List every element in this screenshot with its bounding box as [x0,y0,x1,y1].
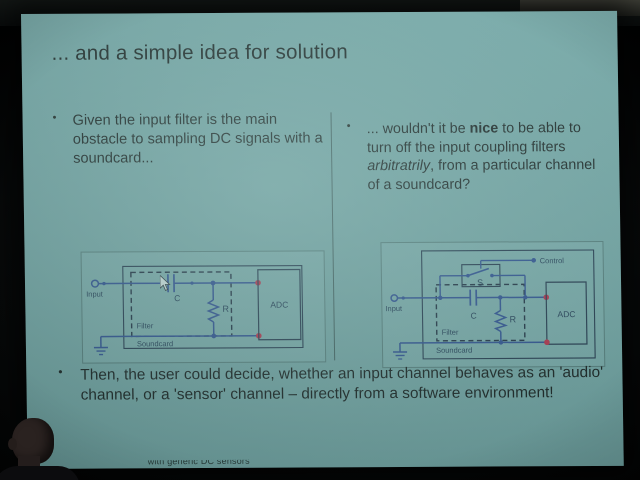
capacitor-label: C [470,311,476,321]
filter-label: Filter [442,328,459,337]
left-column: Given the input filter is the main obsta… [46,110,329,168]
switch-label: S [477,278,483,288]
adc-label: ADC [270,300,288,310]
wire-dot-1 [190,281,193,284]
left-bullet: Given the input filter is the main obsta… [46,110,329,168]
input-junction-dot [438,296,442,300]
input-dot-1 [402,296,405,299]
resistor-label: R [510,314,517,324]
right-bullet-bold: nice [470,120,499,136]
soundcard-label: Soundcard [137,339,173,348]
column-divider [330,112,335,360]
figure-passive-filter: C R [81,250,327,363]
control-terminal [531,258,536,263]
slide-content: ... and a simple idea for solution Given… [21,11,624,469]
photo-of-projected-slide: ... and a simple idea for solution Given… [0,0,640,480]
switch-blade [468,269,489,276]
input-label: Input [86,290,104,299]
resistor-zigzag [208,300,218,322]
ground-rail-wire [101,336,214,337]
resistor-zigzag [495,310,505,331]
adc-label: ADC [557,309,575,319]
circuit-diagram-right: S Control Input [381,242,604,367]
control-label: Control [540,256,565,265]
projection-screen: ... and a simple idea for solution Given… [21,11,624,469]
right-column: ... wouldn't it be nice to be able to tu… [341,119,600,195]
capacitor-label: C [174,293,180,303]
ground-rail-wire [400,342,547,343]
input-junction-dot [102,282,105,285]
soundcard-label: Soundcard [436,346,472,355]
resistor-label: R [222,304,229,314]
figure-switched-filter: S Control Input [380,241,605,368]
presenter-body [0,466,80,480]
bottom-bullet: Then, the user could decide, whether an … [50,363,640,407]
input-label: Input [385,304,403,313]
slide-title: ... and a simple idea for solution [51,40,348,66]
filter-label: Filter [137,321,154,330]
right-bullet: ... wouldn't it be nice to be able to tu… [341,119,600,195]
adc-input-node-bottom [544,339,550,345]
input-terminal [391,295,397,301]
right-bullet-prefix: ... wouldn't it be [367,121,470,138]
footer-cut-label: with generic DC sensors [148,458,528,466]
input-terminal [92,280,99,287]
presenter-silhouette [0,412,86,480]
circuit-diagram-left: C R [82,251,326,362]
footer-cut-text: with generic DC sensors [148,458,528,473]
mouse-cursor-icon [160,275,171,291]
presenter-ear [8,438,17,450]
right-bullet-italic: arbitratrily [367,158,430,174]
